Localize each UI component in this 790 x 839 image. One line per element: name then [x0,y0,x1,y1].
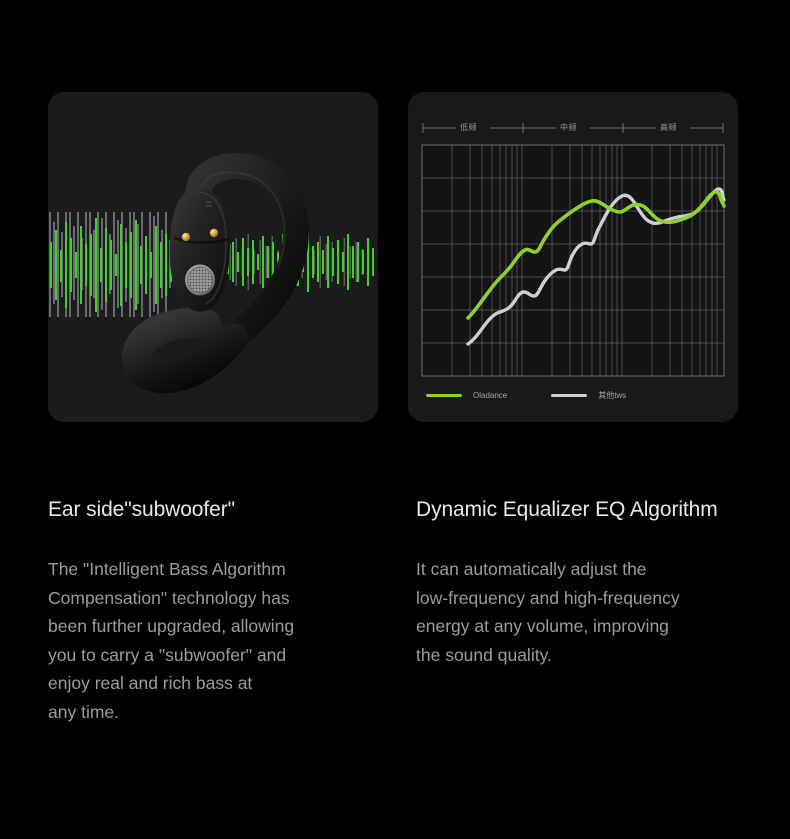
product-feature-page: 低频 中频 高频 [0,0,790,839]
frequency-response-plot [408,92,738,422]
feature-text-column-right: Dynamic Equalizer EQ Algorithm It can au… [416,495,786,669]
legend-swatch-oladance [426,394,462,397]
ear-side-subwoofer-image-panel [48,92,378,422]
feature-heading-right: Dynamic Equalizer EQ Algorithm [416,495,786,525]
eq-chart-panel: 低频 中频 高频 [408,92,738,422]
legend-swatch-other-tws [551,394,587,397]
legend-label-oladance: Oladance [473,391,507,400]
feature-body-left: The "Intelligent Bass Algorithm Compensa… [48,525,398,726]
earbud-product-graphic [48,92,378,422]
chart-legend: Oladance 其他tws [426,388,670,402]
legend-item-other-tws: 其他tws [551,390,626,401]
feature-heading-left: Ear side"subwoofer" [48,495,398,525]
legend-label-other-tws: 其他tws [598,390,626,401]
feature-text-column-left: Ear side"subwoofer" The "Intelligent Bas… [48,495,398,726]
feature-body-right: It can automatically adjust the low-freq… [416,525,786,669]
feature-image-row: 低频 中频 高频 [0,92,790,422]
legend-item-oladance: Oladance [426,391,507,400]
